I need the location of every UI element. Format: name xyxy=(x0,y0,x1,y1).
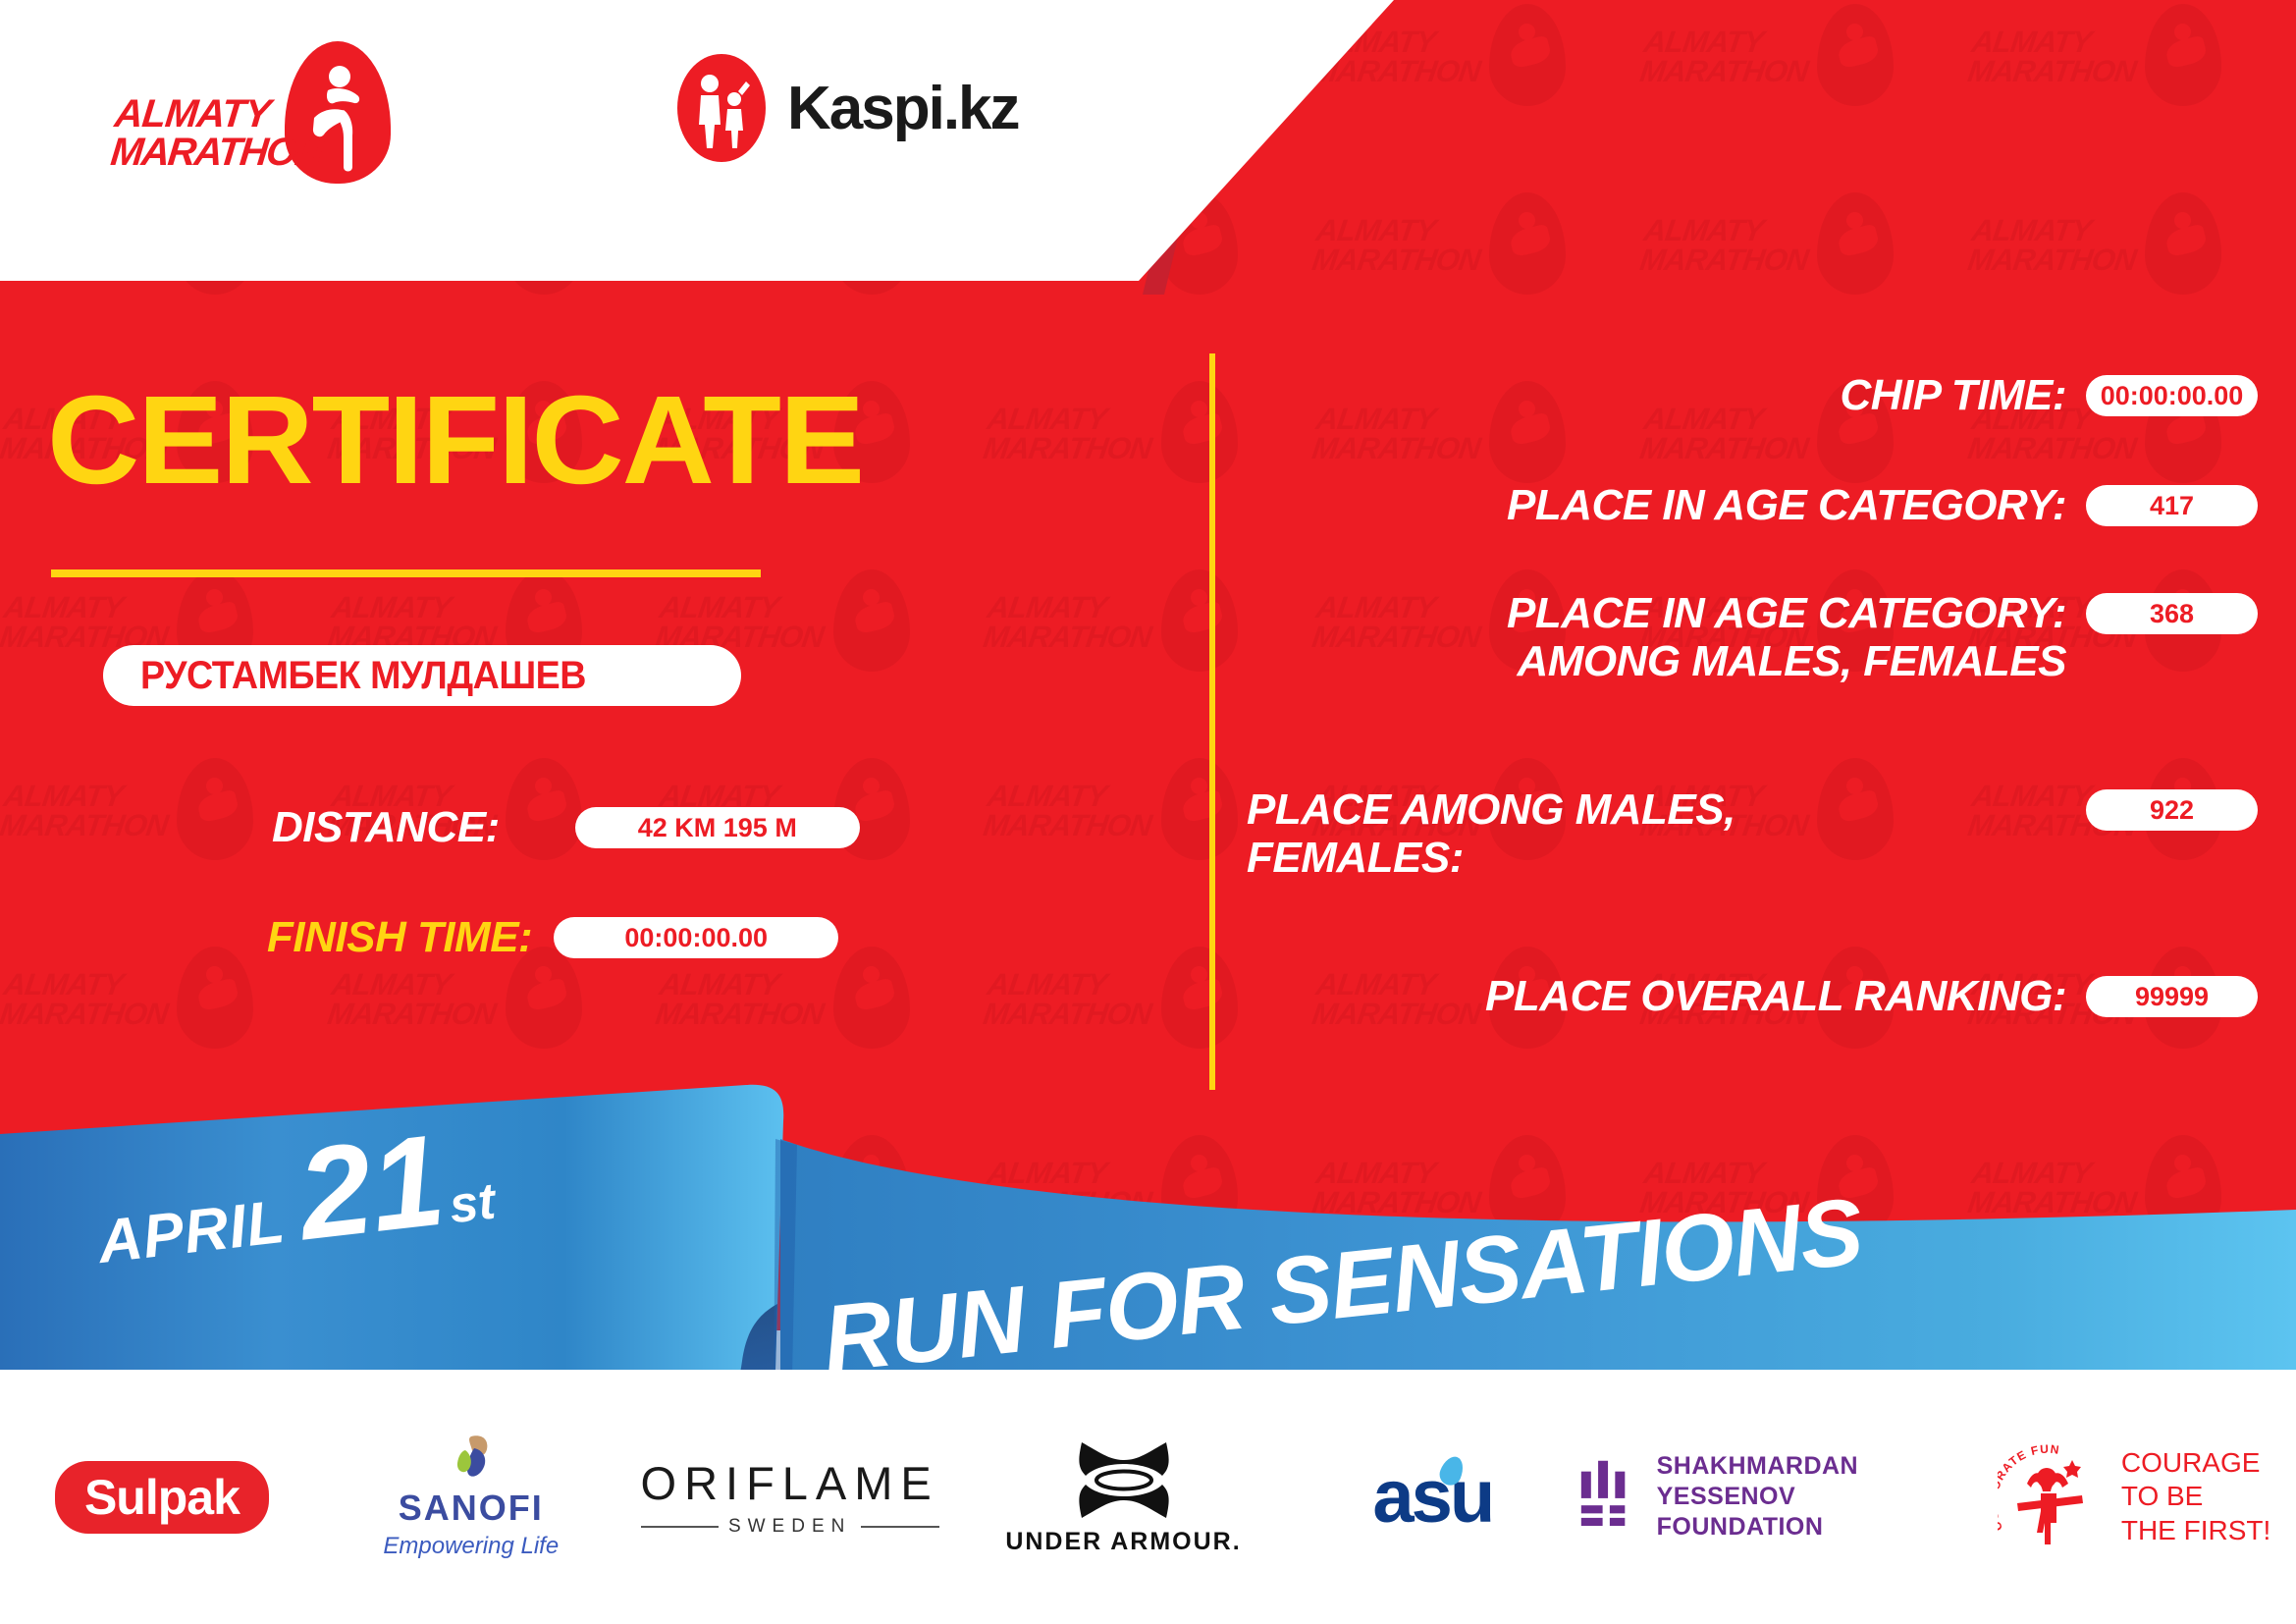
sponsor-under-armour: UNDER ARMOUR. xyxy=(962,1429,1286,1566)
watermark-tile: ALMATYMARATHON xyxy=(328,1320,656,1330)
watermark-drop-icon xyxy=(833,1135,910,1237)
courage-line3: THE FIRST! xyxy=(2121,1514,2270,1547)
watermark-drop-icon xyxy=(2145,4,2221,106)
finish-time-row: FINISH TIME: 00:00:00.00 xyxy=(267,913,838,962)
place-age-category-gender-label: PLACE IN AGE CATEGORY: AMONG MALES, FEMA… xyxy=(1247,589,2086,686)
watermark-drop-icon xyxy=(2145,1324,2221,1330)
watermark-drop-icon xyxy=(177,947,253,1049)
chip-time-value: 00:00:00.00 xyxy=(2086,375,2258,416)
watermark-drop-icon xyxy=(833,569,910,672)
overall-ranking-label: PLACE OVERALL RANKING: xyxy=(1247,972,2086,1020)
result-row-place-age-category-gender: PLACE IN AGE CATEGORY: AMONG MALES, FEMA… xyxy=(1247,589,2258,686)
watermark-drop-icon xyxy=(177,758,253,860)
watermark-drop-icon xyxy=(1817,4,1894,106)
watermark-text: ALMATYMARATHON xyxy=(1966,1159,2142,1218)
watermark-drop-icon xyxy=(1817,192,1894,295)
label-line-1: PLACE IN AGE CATEGORY: xyxy=(1247,589,2066,637)
asu-wordmark: asu xyxy=(1372,1455,1492,1539)
event-day: 21 xyxy=(293,1115,451,1261)
sanofi-swoosh-icon xyxy=(442,1435,501,1484)
marathon-wordmark: ALMATY MARATHON xyxy=(109,95,328,172)
under-armour-icon xyxy=(1060,1438,1188,1522)
distance-label: DISTANCE: xyxy=(272,803,500,852)
watermark-tile: ALMATYMARATHON xyxy=(1968,1320,2296,1330)
watermark-text: ALMATYMARATHON xyxy=(0,593,174,652)
sponsor-yessenov-foundation: SHAKHMARDAN YESSENOV FOUNDATION xyxy=(1579,1429,1972,1566)
watermark-tile: ALMATYMARATHON xyxy=(1968,943,2296,1131)
watermark-text: ALMATYMARATHON xyxy=(982,1159,1157,1218)
watermark-drop-icon xyxy=(1489,1324,1566,1330)
watermark-text: ALMATYMARATHON xyxy=(1309,1159,1485,1218)
distance-value: 42 KM 195 M xyxy=(575,807,860,848)
label-line-2: AMONG MALES, FEMALES xyxy=(1247,637,2066,685)
sanofi-wordmark: SANOFI xyxy=(399,1488,544,1529)
watermark-text: ALMATYMARATHON xyxy=(326,970,502,1029)
yessenov-bars-icon xyxy=(1579,1455,1634,1540)
result-row-overall-ranking: PLACE OVERALL RANKING: 99999 xyxy=(1247,972,2258,1020)
label-line-1: PLACE AMONG MALES, xyxy=(1247,785,2066,834)
watermark-drop-icon xyxy=(177,1324,253,1330)
participant-name-value: РУСТАМБЕК МУЛДАШЕВ xyxy=(140,654,586,698)
sponsor-footer: Sulpak SANOFI Empowering Life ORIFLAME xyxy=(0,1370,2296,1624)
watermark-drop-icon xyxy=(2145,1135,2221,1237)
watermark-text: ALMATYMARATHON xyxy=(1638,216,1814,275)
sulpak-logo: Sulpak xyxy=(55,1461,269,1534)
sponsor-sulpak: Sulpak xyxy=(0,1429,324,1566)
event-month: APRIL xyxy=(94,1187,289,1277)
yessenov-line1: SHAKHMARDAN YESSENOV xyxy=(1657,1451,1973,1513)
oriflame-country: SWEDEN xyxy=(728,1516,851,1538)
watermark-drop-icon xyxy=(833,947,910,1049)
watermark-tile: ALMATYMARATHON xyxy=(328,943,656,1131)
participant-name-field: РУСТАМБЕК МУЛДАШЕВ xyxy=(103,645,741,706)
watermark-tile: ALMATYMARATHON xyxy=(1968,189,2296,377)
watermark-text: ALMATYMARATHON xyxy=(654,1159,829,1218)
watermark-tile: ALMATYMARATHON xyxy=(1640,189,1968,377)
place-age-category-gender-value: 368 xyxy=(2086,593,2258,634)
watermark-text: ALMATYMARATHON xyxy=(982,405,1157,463)
kaspi-wordmark: Kaspi.kz xyxy=(787,74,1019,143)
watermark-text: ALMATYMARATHON xyxy=(0,782,174,840)
courage-line2: TO BE xyxy=(2121,1480,2270,1513)
watermark-text: ALMATYMARATHON xyxy=(982,593,1157,652)
courage-line1: COURAGE xyxy=(2121,1446,2270,1480)
sponsor-oriflame: ORIFLAME SWEDEN xyxy=(618,1429,962,1566)
oriflame-wordmark: ORIFLAME xyxy=(641,1456,939,1510)
watermark-drop-icon xyxy=(506,1324,582,1330)
sponsor-sanofi: SANOFI Empowering Life xyxy=(324,1429,618,1566)
watermark-drop-icon xyxy=(1161,569,1238,672)
watermark-text: ALMATYMARATHON xyxy=(982,970,1157,1029)
oriflame-rule-left xyxy=(641,1526,719,1528)
watermark-drop-icon xyxy=(1161,381,1238,483)
certificate-page: ALMATYMARATHONALMATYMARATHONALMATYMARATH… xyxy=(0,0,2296,1624)
result-row-place-age-category: PLACE IN AGE CATEGORY: 417 xyxy=(1247,481,2258,529)
place-age-category-label: PLACE IN AGE CATEGORY: xyxy=(1247,481,2086,529)
watermark-text: ALMATYMARATHON xyxy=(982,782,1157,840)
vertical-divider xyxy=(1209,353,1215,1090)
place-among-gender-value: 922 xyxy=(2086,789,2258,831)
watermark-tile: ALMATYMARATHON xyxy=(1640,1320,1968,1330)
sponsor-courage-fund: CORPORATE FUND COURAGE TO BE THE FIRST! xyxy=(1972,1429,2296,1566)
watermark-tile: ALMATYMARATHON xyxy=(656,943,984,1131)
result-row-chip-time: CHIP TIME: 00:00:00.00 xyxy=(1247,371,2258,419)
watermark-drop-icon xyxy=(1489,4,1566,106)
sanofi-tagline: Empowering Life xyxy=(383,1533,559,1560)
watermark-tile: ALMATYMARATHON xyxy=(0,943,328,1131)
watermark-drop-icon xyxy=(506,1135,582,1237)
almaty-marathon-logo: ALMATY MARATHON xyxy=(113,41,427,179)
watermark-drop-icon xyxy=(1161,758,1238,860)
page-title: CERTIFICATE xyxy=(47,378,863,504)
watermark-text: ALMATYMARATHON xyxy=(654,970,829,1029)
watermark-tile: ALMATYMARATHON xyxy=(1968,1131,2296,1320)
finish-time-value: 00:00:00.00 xyxy=(554,917,838,958)
watermark-text: ALMATYMARATHON xyxy=(326,593,502,652)
watermark-tile: ALMATYMARATHON xyxy=(0,1320,328,1330)
marathon-word-line2: MARATHON xyxy=(109,134,323,172)
watermark-drop-icon xyxy=(1161,947,1238,1049)
result-row-place-among-gender: PLACE AMONG MALES, FEMALES: 922 xyxy=(1247,785,2258,883)
watermark-tile: ALMATYMARATHON xyxy=(1312,189,1640,377)
kaspi-family-icon xyxy=(677,54,766,162)
overall-ranking-value: 99999 xyxy=(2086,976,2258,1017)
watermark-drop-icon xyxy=(1489,192,1566,295)
watermark-text: ALMATYMARATHON xyxy=(1638,27,1814,86)
watermark-tile: ALMATYMARATHON xyxy=(1640,0,1968,189)
chip-time-label: CHIP TIME: xyxy=(1247,371,2086,419)
under-armour-wordmark: UNDER ARMOUR. xyxy=(1005,1528,1241,1556)
distance-row: DISTANCE: 42 KM 195 M xyxy=(272,803,860,852)
watermark-text: ALMATYMARATHON xyxy=(1309,216,1485,275)
place-age-category-value: 417 xyxy=(2086,485,2258,526)
courage-runner-icon: CORPORATE FUND xyxy=(1998,1442,2108,1552)
watermark-tile: ALMATYMARATHON xyxy=(1968,0,2296,189)
place-among-gender-label: PLACE AMONG MALES, FEMALES: xyxy=(1247,785,2086,883)
title-underline xyxy=(51,569,761,577)
watermark-drop-icon xyxy=(1161,1135,1238,1237)
marathon-word-line1: ALMATY xyxy=(113,95,327,134)
kaspi-logo: Kaspi.kz xyxy=(677,54,1019,162)
watermark-tile: ALMATYMARATHON xyxy=(1640,943,1968,1131)
watermark-drop-icon xyxy=(2145,192,2221,295)
watermark-text: ALMATYMARATHON xyxy=(1966,216,2142,275)
watermark-text: ALMATYMARATHON xyxy=(1966,27,2142,86)
label-line-2: FEMALES: xyxy=(1247,834,2066,882)
watermark-drop-icon xyxy=(1817,1324,1894,1330)
event-day-suffix: st xyxy=(447,1171,499,1235)
yessenov-line2: FOUNDATION xyxy=(1657,1512,1973,1543)
finish-time-label: FINISH TIME: xyxy=(267,913,532,962)
sponsor-asu: asu xyxy=(1285,1429,1579,1566)
watermark-text: ALMATYMARATHON xyxy=(0,970,174,1029)
watermark-tile: ALMATYMARATHON xyxy=(1312,943,1640,1131)
watermark-text: ALMATYMARATHON xyxy=(654,593,829,652)
oriflame-rule-right xyxy=(861,1526,938,1528)
watermark-tile: ALMATYMARATHON xyxy=(984,943,1311,1131)
